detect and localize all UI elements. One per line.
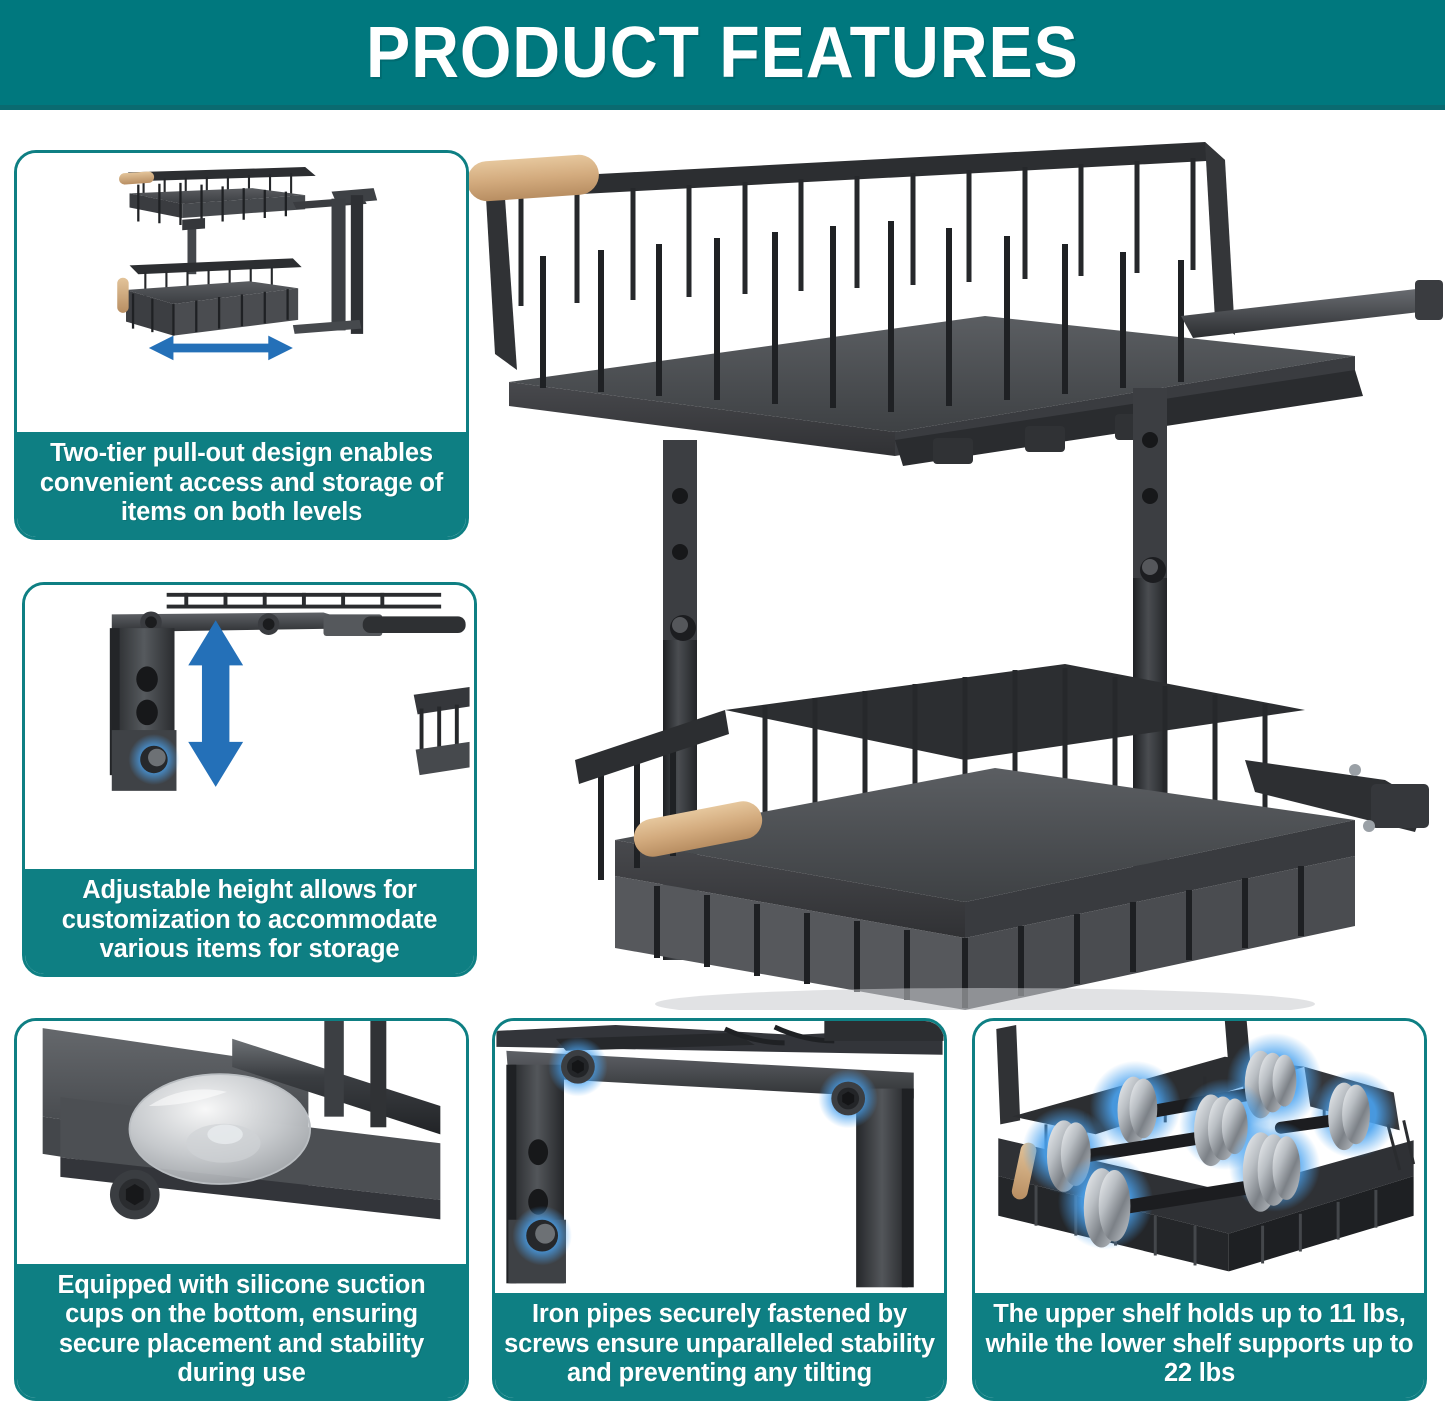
panel-caption-capacity: The upper shelf holds up to 11 lbs, whil… — [975, 1293, 1424, 1398]
upper-wood-handle — [466, 153, 600, 202]
panel-image-two-tier — [17, 153, 466, 432]
panel-caption-adjustable: Adjustable height allows for customizati… — [25, 869, 474, 974]
p1-upper-tier — [119, 167, 367, 225]
vertical-double-arrow-icon — [188, 620, 243, 787]
hex-screw-icon-top-right — [818, 1069, 878, 1129]
panel-image-screws — [495, 1021, 944, 1293]
p1-lower-tier — [117, 258, 301, 335]
panel-caption-screws: Iron pipes securely fastened by screws e… — [495, 1293, 944, 1398]
feature-panel-adjustable: Adjustable height allows for customizati… — [22, 582, 477, 977]
hero-product-image — [425, 120, 1445, 1010]
page-title: PRODUCT FEATURES — [366, 12, 1079, 94]
panel-caption-two-tier: Two-tier pull-out design enables conveni… — [17, 432, 466, 537]
lower-basket — [575, 664, 1429, 1010]
panel-image-capacity — [975, 1021, 1424, 1293]
feature-panel-suction: Equipped with silicone suction cups on t… — [14, 1018, 469, 1401]
hex-screw-icon — [110, 1170, 160, 1220]
upper-basket — [466, 142, 1443, 466]
feature-panel-capacity: The upper shelf holds up to 11 lbs, whil… — [972, 1018, 1427, 1401]
hex-screw-icon-top-left — [548, 1037, 608, 1097]
hex-screw-icon-knob — [512, 1206, 572, 1266]
panel-image-adjustable — [25, 585, 474, 869]
p2-basket-corner — [414, 687, 470, 775]
horizontal-double-arrow-icon — [149, 336, 293, 361]
feature-panel-screws: Iron pipes securely fastened by screws e… — [492, 1018, 947, 1401]
panel-image-suction — [17, 1021, 466, 1264]
panel-caption-suction: Equipped with silicone suction cups on t… — [17, 1264, 466, 1398]
feature-panel-two-tier: Two-tier pull-out design enables conveni… — [14, 150, 469, 540]
page-header: PRODUCT FEATURES — [0, 0, 1445, 110]
silicone-suction-cup-icon — [129, 1074, 310, 1184]
